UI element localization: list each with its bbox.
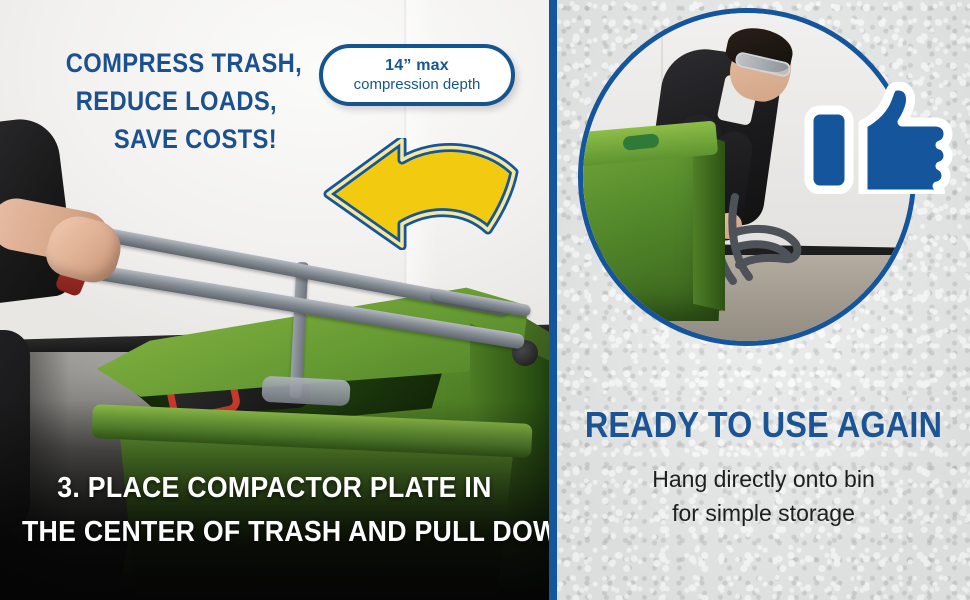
badge-secondary-text: compression depth [354, 75, 481, 94]
green-bin-edge [693, 131, 725, 311]
right-title: READY TO USE AGAIN [557, 405, 970, 445]
caption-line-1: 3. PLACE COMPACTOR PLATE IN [22, 466, 527, 510]
thumbs-up-icon [803, 82, 953, 194]
right-panel: READY TO USE AGAIN Hang directly onto bi… [557, 0, 970, 600]
right-title-text: READY TO USE AGAIN [585, 405, 942, 445]
caption-line-2: THE CENTER OF TRASH AND PULL DOWN [22, 510, 527, 554]
left-headline: COMPRESS TRASH, REDUCE LOADS, SAVE COSTS… [66, 44, 277, 158]
left-caption: 3. PLACE COMPACTOR PLATE IN THE CENTER O… [0, 466, 549, 554]
headline-line-1: COMPRESS TRASH, [66, 44, 277, 82]
subtitle-line-2: for simple storage [557, 496, 970, 530]
right-subtitle: Hang directly onto bin for simple storag… [557, 462, 970, 530]
headline-line-3: SAVE COSTS! [66, 120, 277, 158]
infographic-canvas: COMPRESS TRASH, REDUCE LOADS, SAVE COSTS… [0, 0, 970, 600]
left-panel: COMPRESS TRASH, REDUCE LOADS, SAVE COSTS… [0, 0, 549, 600]
compression-depth-badge: 14” max compression depth [319, 44, 515, 106]
badge-primary-text: 14” max [385, 56, 449, 75]
subtitle-line-1: Hang directly onto bin [557, 462, 970, 496]
curved-arrow-icon [318, 138, 522, 250]
headline-line-2: REDUCE LOADS, [66, 82, 277, 120]
panel-divider [549, 0, 557, 600]
